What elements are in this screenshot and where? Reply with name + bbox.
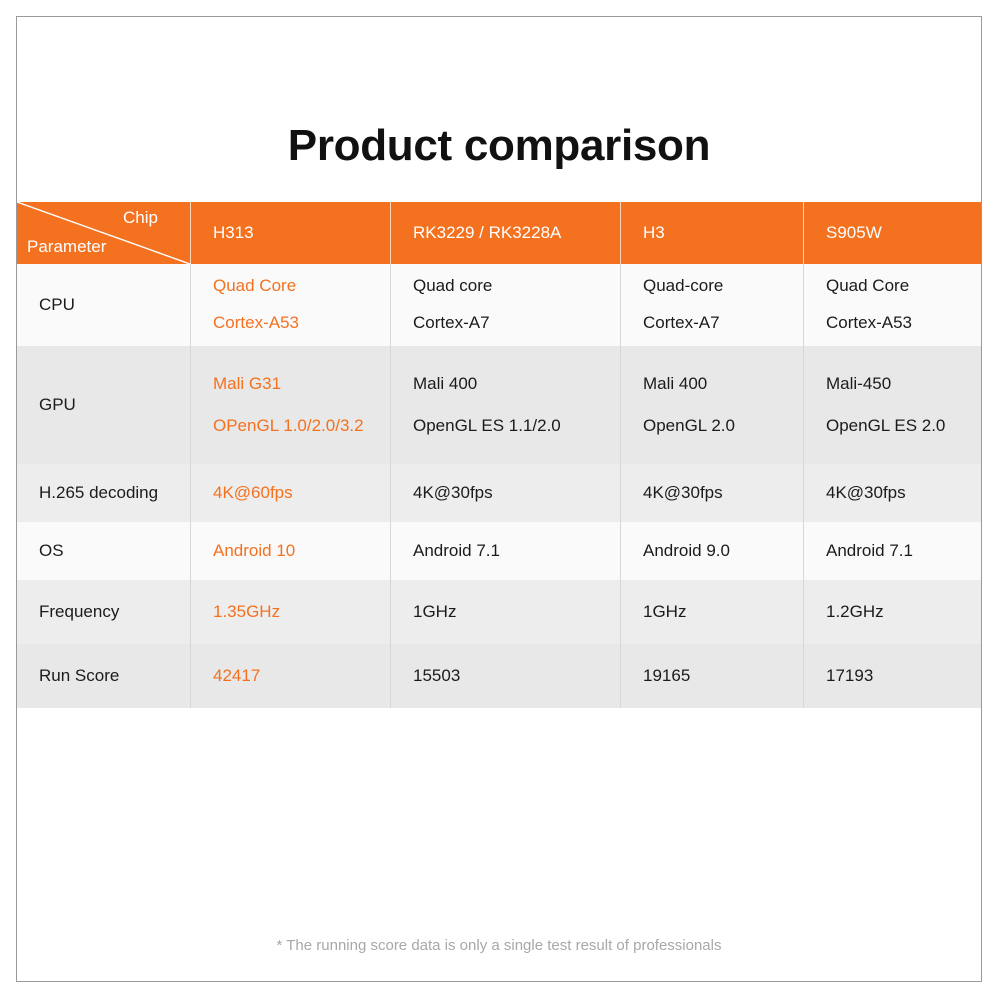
column-header-s905w: S905W xyxy=(804,202,982,264)
cell-os-h3: Android 9.0 xyxy=(621,522,804,580)
cell-line-2: OPenGL 1.0/2.0/3.2 xyxy=(213,414,380,439)
row-label-cpu: CPU xyxy=(17,264,191,346)
cell-frequency-s905w: 1.2GHz xyxy=(804,580,982,644)
table-header-row: Chip Parameter H313 RK3229 / RK3228A H3 … xyxy=(17,202,982,264)
cell-line-1: Mali-450 xyxy=(826,372,973,397)
column-header-h3: H3 xyxy=(621,202,804,264)
cell-line-1: Mali 400 xyxy=(643,372,793,397)
cell-frequency-h313: 1.35GHz xyxy=(191,580,391,644)
cell-h265-h3: 4K@30fps xyxy=(621,464,804,522)
table-row: Run Score 42417 15503 19165 17193 xyxy=(17,644,982,708)
cell-line-1: Mali 400 xyxy=(413,372,610,397)
column-header-h313: H313 xyxy=(191,202,391,264)
cell-cpu-s905w: Quad Core Cortex-A53 xyxy=(804,264,982,346)
cell-h265-rk3229: 4K@30fps xyxy=(391,464,621,522)
cell-run-score-rk3229: 15503 xyxy=(391,644,621,708)
cell-line-2: OpenGL ES 2.0 xyxy=(826,414,973,439)
cell-line-2: Cortex-A53 xyxy=(826,311,973,336)
cell-line-1: Quad core xyxy=(413,274,610,299)
cell-cpu-h3: Quad-core Cortex-A7 xyxy=(621,264,804,346)
table-row: Frequency 1.35GHz 1GHz 1GHz 1.2GHz xyxy=(17,580,982,644)
footnote-text: * The running score data is only a singl… xyxy=(17,937,981,954)
cell-line-2: OpenGL 2.0 xyxy=(643,414,793,439)
cell-line-1: Mali G31 xyxy=(213,372,380,397)
cell-run-score-s905w: 17193 xyxy=(804,644,982,708)
cell-line-2: OpenGL ES 1.1/2.0 xyxy=(413,414,610,439)
row-label-h265-decoding: H.265 decoding xyxy=(17,464,191,522)
row-label-os: OS xyxy=(17,522,191,580)
cell-line-1: Quad Core xyxy=(213,274,380,299)
cell-frequency-h3: 1GHz xyxy=(621,580,804,644)
row-label-frequency: Frequency xyxy=(17,580,191,644)
cell-cpu-rk3229: Quad core Cortex-A7 xyxy=(391,264,621,346)
cell-cpu-h313: Quad Core Cortex-A53 xyxy=(191,264,391,346)
comparison-page: Product comparison Chip Parameter H313 R… xyxy=(16,16,982,982)
cell-frequency-rk3229: 1GHz xyxy=(391,580,621,644)
table-row: CPU Quad Core Cortex-A53 Quad core Corte… xyxy=(17,264,982,346)
cell-gpu-h313: Mali G31 OPenGL 1.0/2.0/3.2 xyxy=(191,346,391,464)
cell-line-1: Quad Core xyxy=(826,274,973,299)
cell-line-2: Cortex-A53 xyxy=(213,311,380,336)
cell-line-2: Cortex-A7 xyxy=(643,311,793,336)
table-row: GPU Mali G31 OPenGL 1.0/2.0/3.2 Mali 400… xyxy=(17,346,982,464)
cell-os-s905w: Android 7.1 xyxy=(804,522,982,580)
cell-line-1: Quad-core xyxy=(643,274,793,299)
cell-line-2: Cortex-A7 xyxy=(413,311,610,336)
cell-h265-h313: 4K@60fps xyxy=(191,464,391,522)
page-title: Product comparison xyxy=(17,121,981,171)
column-header-rk3229: RK3229 / RK3228A xyxy=(391,202,621,264)
cell-os-h313: Android 10 xyxy=(191,522,391,580)
table-row: OS Android 10 Android 7.1 Android 9.0 An… xyxy=(17,522,982,580)
table-row: H.265 decoding 4K@60fps 4K@30fps 4K@30fp… xyxy=(17,464,982,522)
row-label-run-score: Run Score xyxy=(17,644,191,708)
header-corner-cell: Chip Parameter xyxy=(17,202,191,264)
header-chip-label: Chip xyxy=(123,206,158,231)
cell-gpu-s905w: Mali-450 OpenGL ES 2.0 xyxy=(804,346,982,464)
header-parameter-label: Parameter xyxy=(27,235,106,260)
row-label-gpu: GPU xyxy=(17,346,191,464)
cell-run-score-h3: 19165 xyxy=(621,644,804,708)
cell-os-rk3229: Android 7.1 xyxy=(391,522,621,580)
cell-gpu-h3: Mali 400 OpenGL 2.0 xyxy=(621,346,804,464)
product-comparison-table: Chip Parameter H313 RK3229 / RK3228A H3 … xyxy=(17,202,982,708)
cell-run-score-h313: 42417 xyxy=(191,644,391,708)
cell-gpu-rk3229: Mali 400 OpenGL ES 1.1/2.0 xyxy=(391,346,621,464)
cell-h265-s905w: 4K@30fps xyxy=(804,464,982,522)
